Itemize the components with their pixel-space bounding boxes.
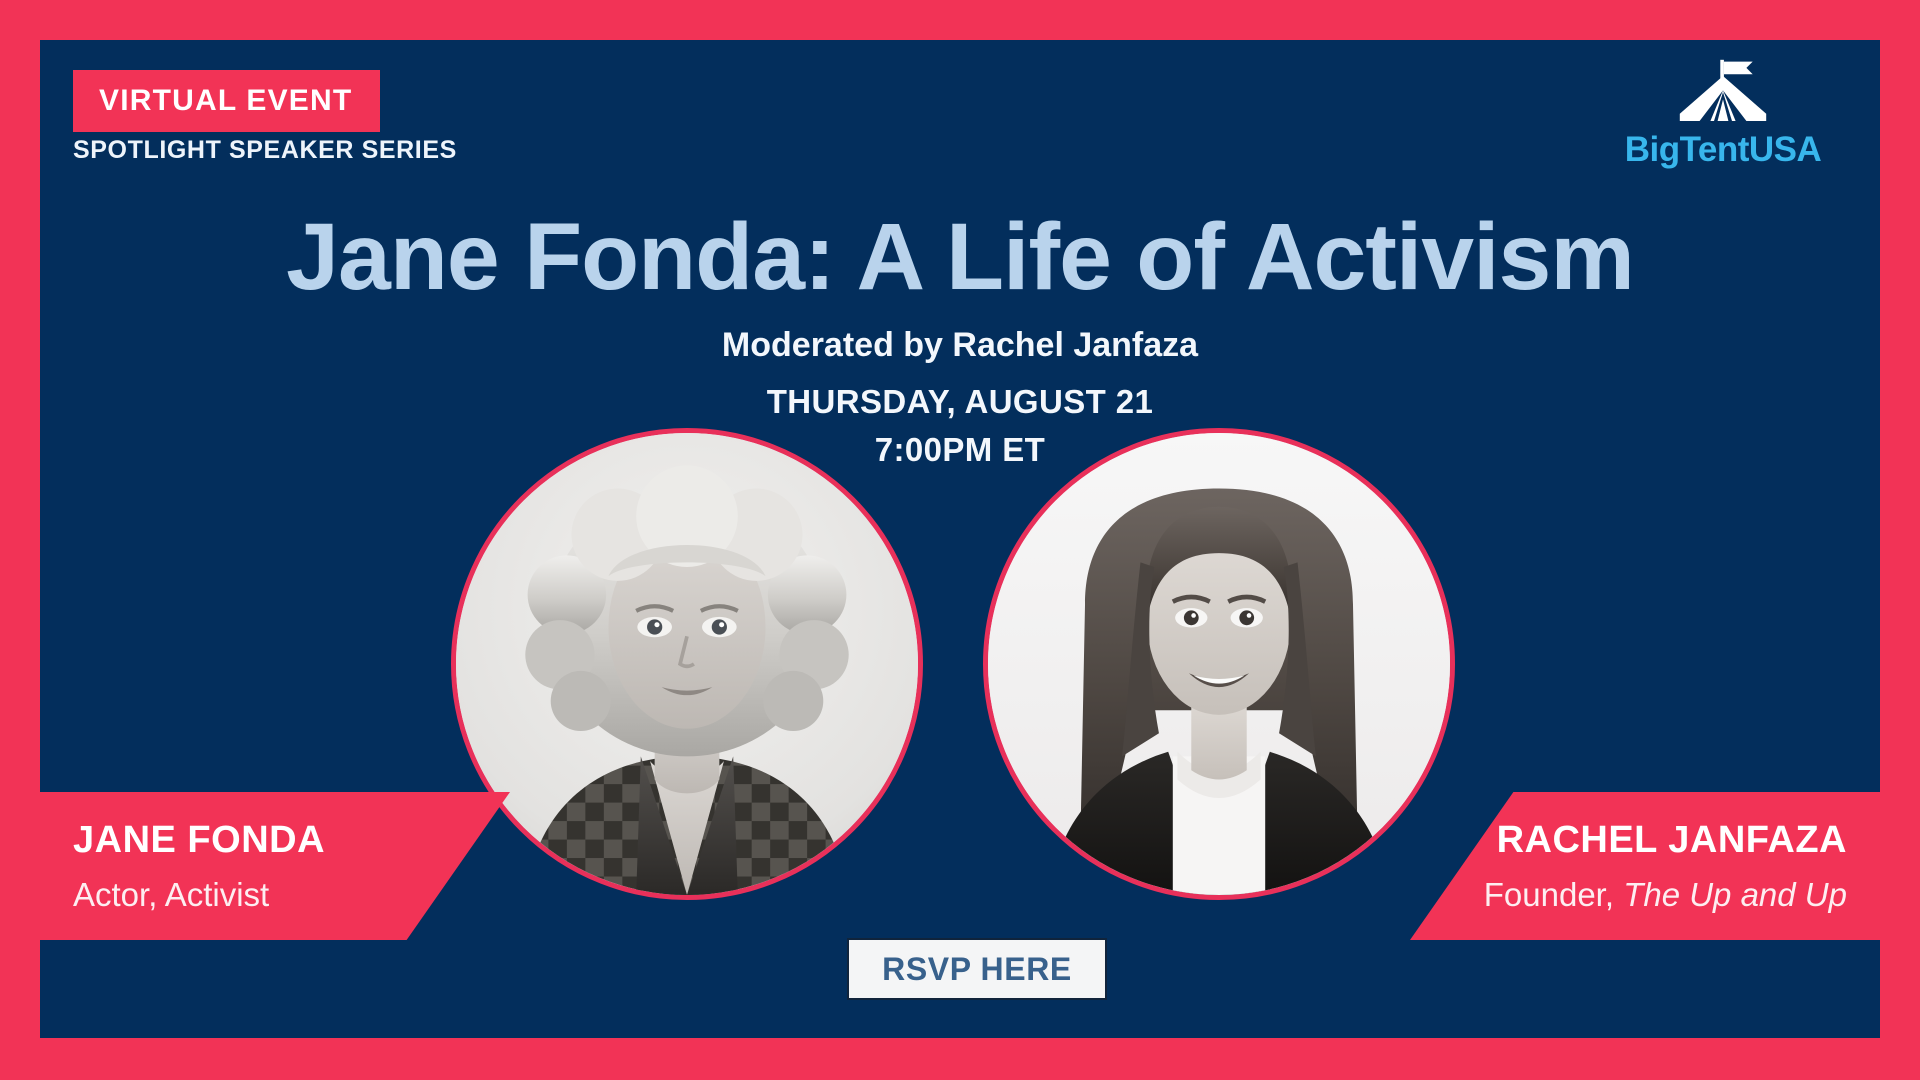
speaker-banner-jane-fonda: JANE FONDA Actor, Activist — [40, 792, 510, 940]
flyer-panel: VIRTUAL EVENT SPOTLIGHT SPEAKER SERIES B… — [40, 40, 1880, 1038]
event-time: 7:00PM ET — [40, 426, 1880, 474]
speaker-photo-jane-fonda — [451, 428, 923, 900]
speaker-banner-rachel-janfaza: RACHEL JANFAZA Founder, The Up and Up — [1410, 792, 1880, 940]
logo-wordmark: BigTentUSA — [1608, 132, 1838, 167]
speaker-role-publication: The Up and Up — [1623, 876, 1847, 913]
spotlight-speaker-series-label: SPOTLIGHT SPEAKER SERIES — [73, 138, 457, 163]
speaker-role: Actor, Activist — [73, 878, 269, 911]
event-flyer: VIRTUAL EVENT SPOTLIGHT SPEAKER SERIES B… — [0, 0, 1920, 1080]
speaker-role: Founder, The Up and Up — [1484, 878, 1847, 911]
page-title: Jane Fonda: A Life of Activism — [40, 208, 1880, 307]
event-date: THURSDAY, AUGUST 21 — [40, 378, 1880, 426]
speaker-role-text: Actor, Activist — [73, 876, 269, 913]
speaker-name: JANE FONDA — [73, 821, 325, 859]
tent-with-flag-icon — [1669, 58, 1777, 130]
bigtentusa-logo: BigTentUSA — [1608, 58, 1838, 167]
moderator-line: Moderated by Rachel Janfaza — [40, 328, 1880, 362]
rsvp-button[interactable]: RSVP HERE — [847, 938, 1107, 1000]
virtual-event-badge: VIRTUAL EVENT — [73, 70, 380, 132]
event-datetime: THURSDAY, AUGUST 21 7:00PM ET — [40, 378, 1880, 474]
speaker-role-text: Founder, — [1484, 876, 1623, 913]
speaker-name: RACHEL JANFAZA — [1497, 821, 1847, 859]
speaker-photo-rachel-janfaza — [983, 428, 1455, 900]
